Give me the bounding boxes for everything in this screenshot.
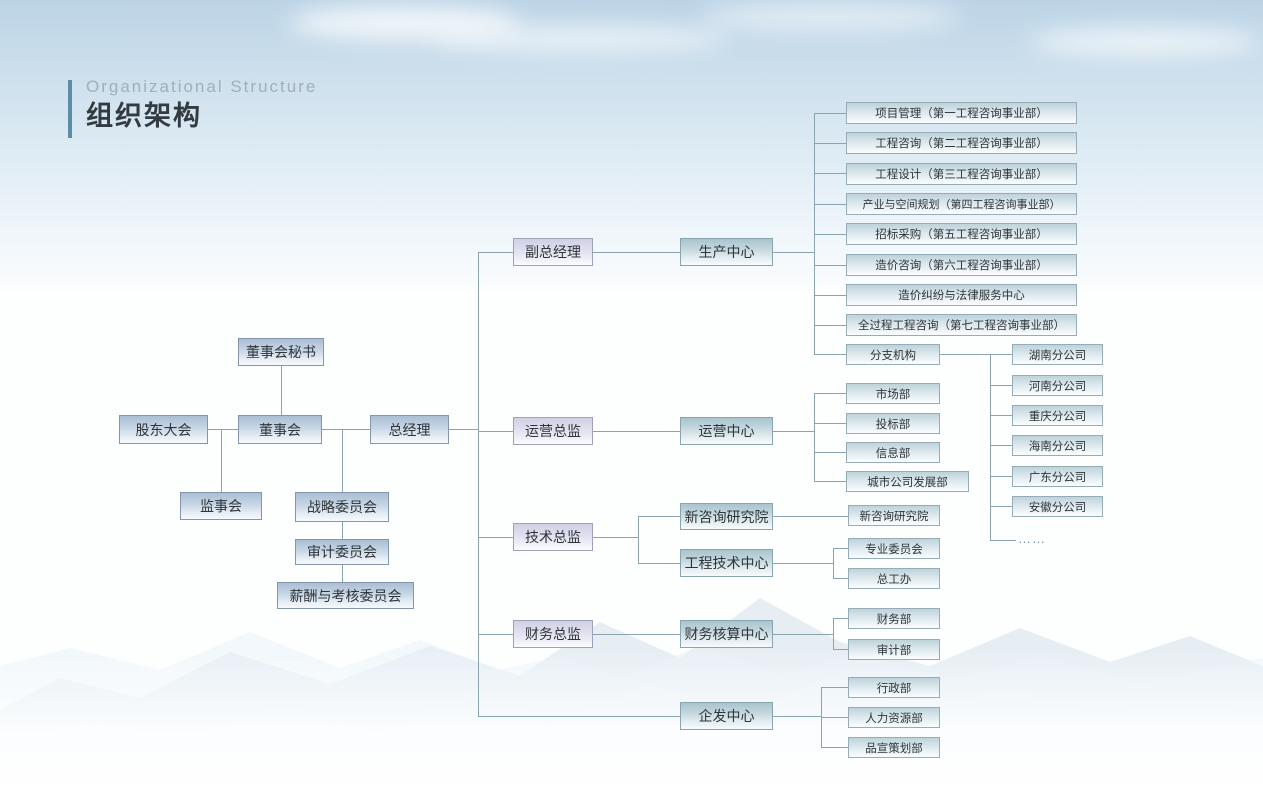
- edge-trunk-fin-director: [478, 634, 513, 635]
- edge-trunk-ops-director: [478, 431, 513, 432]
- cloud-decoration: [1030, 28, 1260, 56]
- node-tech-dept[interactable]: 新咨询研究院: [848, 505, 940, 526]
- edge-opscenter-trunk: [773, 431, 814, 432]
- edge-dept-3: [814, 173, 846, 174]
- trunk-eng-depts: [833, 548, 834, 579]
- trunk-ops-depts: [814, 393, 815, 481]
- node-enterprise-dept[interactable]: 行政部: [848, 677, 940, 698]
- node-new-consulting-institute[interactable]: 新咨询研究院: [680, 503, 773, 530]
- edge-opsdept-3: [814, 452, 846, 453]
- edge-dept-7: [814, 295, 846, 296]
- node-finance-dept[interactable]: 财务部: [848, 608, 940, 629]
- page-title: Organizational Structure 组织架构: [68, 76, 317, 134]
- edge-branchorg-trunk: [940, 354, 990, 355]
- node-branch-company[interactable]: 河南分公司: [1012, 375, 1103, 396]
- node-operations-dept[interactable]: 城市公司发展部: [846, 471, 969, 492]
- edge-findept-2: [833, 649, 848, 650]
- node-finance-director[interactable]: 财务总监: [513, 620, 593, 648]
- node-production-dept[interactable]: 造价纠纷与法律服务中心: [846, 284, 1077, 306]
- edge-fincenter-trunk: [773, 634, 833, 635]
- edge-entdept-1: [821, 687, 848, 688]
- node-enterprise-dept[interactable]: 人力资源部: [848, 707, 940, 728]
- edge-engdept-1: [833, 548, 848, 549]
- node-tech-dept[interactable]: 总工办: [848, 568, 940, 589]
- node-tech-dept[interactable]: 专业委员会: [848, 538, 940, 559]
- node-operations-dept[interactable]: 投标部: [846, 413, 940, 434]
- edge-branch-2: [990, 385, 1012, 386]
- node-operations-dept[interactable]: 市场部: [846, 383, 940, 404]
- bottom-haze: [0, 650, 1263, 800]
- edge-opsdept-4: [814, 481, 846, 482]
- edge-dept-5: [814, 234, 846, 235]
- trunk-fin-depts: [833, 618, 834, 649]
- edge-dept-4: [814, 204, 846, 205]
- trunk-branches: [990, 354, 991, 540]
- title-accent-bar: [68, 80, 72, 138]
- edge-deputy-production: [593, 252, 680, 253]
- edge-branch-more: [990, 540, 1016, 541]
- edge-dept-9: [814, 354, 846, 355]
- cloud-decoration: [700, 2, 960, 32]
- edge-strategy-audit: [342, 522, 343, 539]
- edge-opsdept-2: [814, 423, 846, 424]
- node-technology-director[interactable]: 技术总监: [513, 523, 593, 551]
- edge-dept-1: [814, 113, 846, 114]
- edge-branch-6: [990, 506, 1012, 507]
- edge-dept-6: [814, 265, 846, 266]
- edge-engcenter-trunk: [773, 563, 833, 564]
- edge-board-gm: [322, 429, 370, 430]
- node-finance-dept[interactable]: 审计部: [848, 639, 940, 660]
- node-production-dept[interactable]: 工程设计（第三工程咨询事业部）: [846, 163, 1077, 185]
- node-board-secretary[interactable]: 董事会秘书: [238, 338, 324, 366]
- node-strategy-committee[interactable]: 战略委员会: [295, 492, 389, 522]
- node-branch-company[interactable]: 重庆分公司: [1012, 405, 1103, 426]
- edge-dept-8: [814, 325, 846, 326]
- title-english: Organizational Structure: [86, 76, 317, 98]
- node-engineering-tech-center[interactable]: 工程技术中心: [680, 549, 773, 577]
- edge-branch-4: [990, 445, 1012, 446]
- node-supervisory-board[interactable]: 监事会: [180, 492, 262, 520]
- edge-branch-5: [990, 476, 1012, 477]
- edge-branch-1: [990, 354, 1012, 355]
- edge-opsdept-1: [814, 393, 846, 394]
- node-board-of-directors[interactable]: 董事会: [238, 415, 322, 444]
- edge-entdept-3: [821, 747, 848, 748]
- node-production-dept[interactable]: 工程咨询（第二工程咨询事业部）: [846, 132, 1077, 154]
- node-operations-dept[interactable]: 信息部: [846, 442, 940, 463]
- edge-audit-compensation: [342, 565, 343, 582]
- edge-tech-institute: [638, 516, 680, 517]
- edge-branch-3: [990, 415, 1012, 416]
- node-production-dept[interactable]: 造价咨询（第六工程咨询事业部）: [846, 254, 1077, 276]
- slide-canvas: Organizational Structure 组织架构: [0, 0, 1263, 800]
- edge-trunk-tech-director: [478, 537, 513, 538]
- edge-tech-split: [593, 537, 638, 538]
- node-deputy-general-manager[interactable]: 副总经理: [513, 238, 593, 266]
- trunk-gm-vertical: [478, 252, 479, 717]
- node-finance-accounting-center[interactable]: 财务核算中心: [680, 620, 773, 648]
- node-production-dept[interactable]: 项目管理（第一工程咨询事业部）: [846, 102, 1077, 124]
- edge-institute-leaf: [773, 516, 848, 517]
- node-branch-organizations[interactable]: 分支机构: [846, 344, 940, 365]
- node-audit-committee[interactable]: 审计委员会: [295, 539, 389, 565]
- edge-trunk-enterprise-center: [478, 716, 680, 717]
- node-shareholders-meeting[interactable]: 股东大会: [119, 415, 208, 444]
- edge-tech-vertical: [638, 516, 639, 564]
- node-production-dept[interactable]: 全过程工程咨询（第七工程咨询事业部）: [846, 314, 1077, 336]
- node-operations-center[interactable]: 运营中心: [680, 417, 773, 445]
- edge-gm-trunk: [449, 429, 479, 430]
- node-general-manager[interactable]: 总经理: [370, 415, 449, 444]
- node-operations-director[interactable]: 运营总监: [513, 417, 593, 445]
- edge-entcenter-trunk: [773, 716, 821, 717]
- title-chinese: 组织架构: [86, 98, 317, 134]
- cloud-decoration: [430, 26, 730, 52]
- edge-dept-2: [814, 143, 846, 144]
- edge-ops-opscenter: [593, 431, 680, 432]
- edge-production-trunk: [773, 252, 814, 253]
- edge-tech-engcenter: [638, 563, 680, 564]
- node-branch-company[interactable]: 湖南分公司: [1012, 344, 1103, 365]
- edge-entdept-2: [821, 717, 848, 718]
- edge-engdept-2: [833, 578, 848, 579]
- node-branch-company[interactable]: 安徽分公司: [1012, 496, 1103, 517]
- node-production-center[interactable]: 生产中心: [680, 238, 773, 266]
- node-branch-company[interactable]: 广东分公司: [1012, 466, 1103, 487]
- edge-shareholders-board: [208, 429, 242, 430]
- node-enterprise-dev-center[interactable]: 企发中心: [680, 702, 773, 730]
- branches-ellipsis: ……: [1018, 531, 1046, 546]
- edge-fin-fincenter: [593, 634, 680, 635]
- node-branch-company[interactable]: 海南分公司: [1012, 435, 1103, 456]
- edge-trunk-deputy-gm: [478, 252, 513, 253]
- node-production-dept[interactable]: 产业与空间规划（第四工程咨询事业部）: [846, 193, 1077, 215]
- node-enterprise-dept[interactable]: 品宣策划部: [848, 737, 940, 758]
- edge-findept-1: [833, 618, 848, 619]
- node-production-dept[interactable]: 招标采购（第五工程咨询事业部）: [846, 223, 1077, 245]
- node-compensation-committee[interactable]: 薪酬与考核委员会: [277, 582, 414, 609]
